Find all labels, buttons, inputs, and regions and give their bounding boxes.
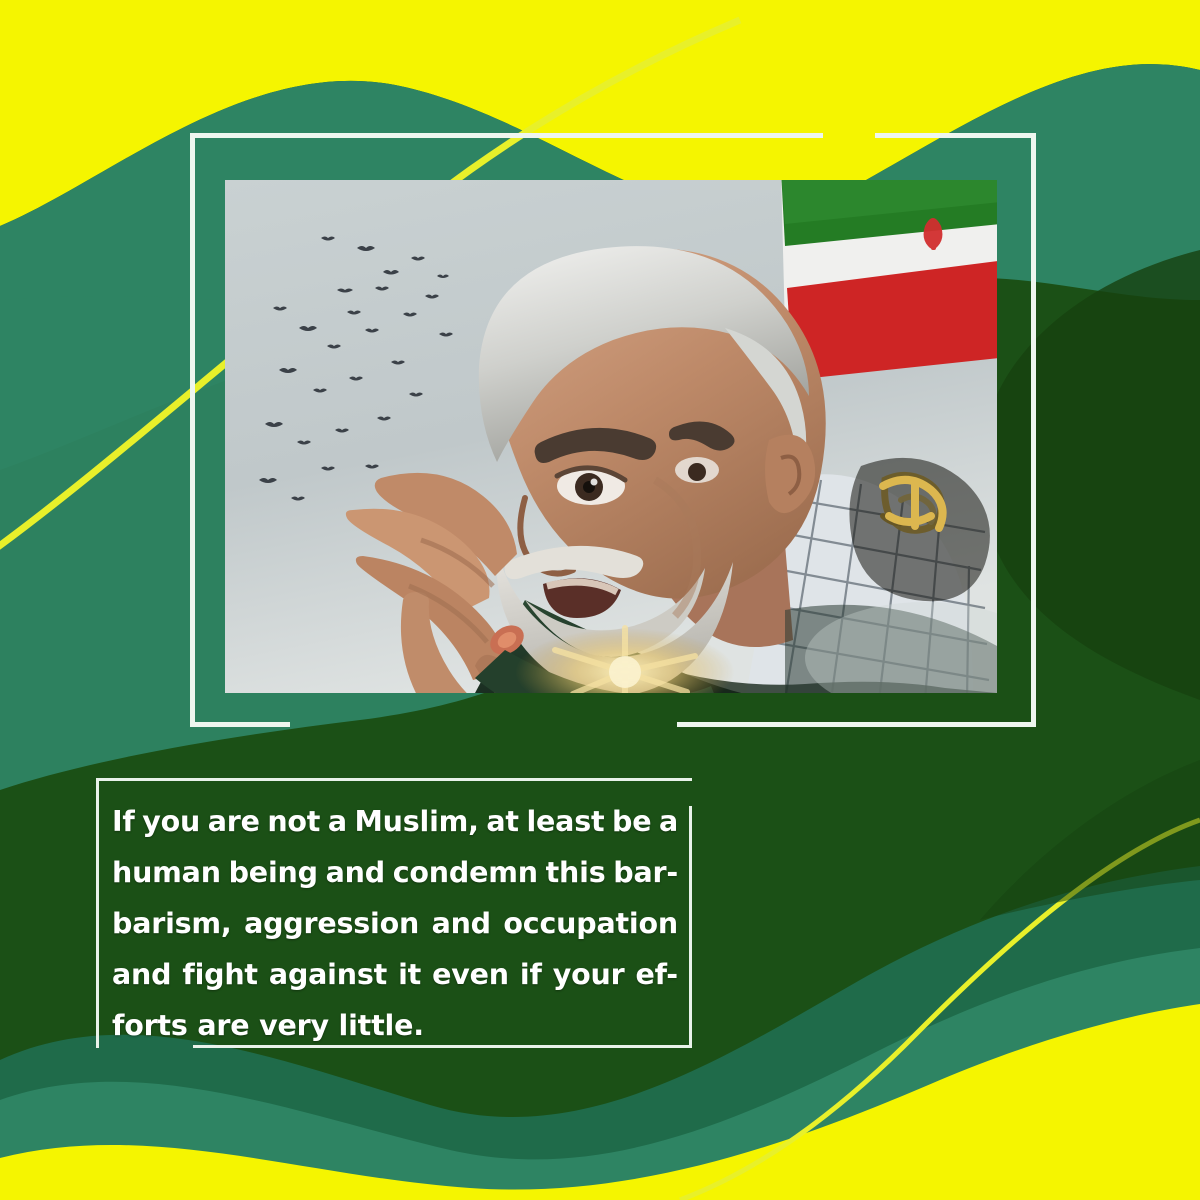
quote-text: IfyouarenotaMuslim,atleastbea humanbeing… — [112, 796, 678, 1051]
quote-border-right — [689, 806, 692, 1048]
quote-word: barism, — [112, 898, 232, 949]
quote-word: a — [659, 796, 678, 847]
quote-block: IfyouarenotaMuslim,atleastbea humanbeing… — [96, 778, 692, 1048]
commander-portrait-photo — [225, 180, 997, 693]
quote-word: and — [112, 949, 171, 1000]
frame-bottom-left-segment — [190, 722, 290, 727]
quote-word: against — [269, 949, 387, 1000]
poster-canvas: IfyouarenotaMuslim,atleastbea humanbeing… — [0, 0, 1200, 1200]
quote-line-5: forts are very little. — [112, 1000, 678, 1051]
quote-word: Muslim, — [355, 796, 479, 847]
quote-word: condemn — [393, 847, 538, 898]
quote-word: it — [398, 949, 421, 1000]
quote-line-1: IfyouarenotaMuslim,atleastbea — [112, 796, 678, 847]
quote-word: and — [326, 847, 385, 898]
quote-border-left — [96, 778, 99, 1048]
quote-word: least — [526, 796, 604, 847]
iranian-flag — [781, 180, 997, 380]
quote-word: occupation — [503, 898, 678, 949]
quote-word: and — [432, 898, 491, 949]
quote-line-4: andfightagainstitevenifyouref- — [112, 949, 678, 1000]
quote-word: if — [520, 949, 542, 1000]
quote-word: being — [229, 847, 318, 898]
photo-frame — [190, 133, 1036, 727]
quote-word: your — [553, 949, 625, 1000]
face-and-head — [479, 246, 826, 693]
quote-word: not — [267, 796, 320, 847]
quote-word: even — [432, 949, 509, 1000]
quote-border-top — [96, 778, 692, 781]
frame-right-line — [1031, 133, 1036, 727]
frame-bottom-right-segment — [677, 722, 1036, 727]
quote-word: fight — [182, 949, 257, 1000]
quote-word: a — [328, 796, 347, 847]
quote-word: are — [208, 796, 260, 847]
quote-word: If — [112, 796, 135, 847]
frame-top-left-segment — [190, 133, 823, 138]
quote-word: this — [546, 847, 606, 898]
quote-word: aggression — [244, 898, 419, 949]
quote-word: human — [112, 847, 221, 898]
frame-left-line — [190, 133, 195, 727]
quote-word: be — [612, 796, 651, 847]
frame-top-right-segment — [875, 133, 1036, 138]
quote-line-2: humanbeingandcondemnthisbar- — [112, 847, 678, 898]
quote-word: you — [142, 796, 200, 847]
quote-word: bar- — [613, 847, 678, 898]
quote-word: at — [486, 796, 518, 847]
quote-word: ef- — [635, 949, 677, 1000]
quote-line-3: barism,aggressionandoccupation — [112, 898, 678, 949]
